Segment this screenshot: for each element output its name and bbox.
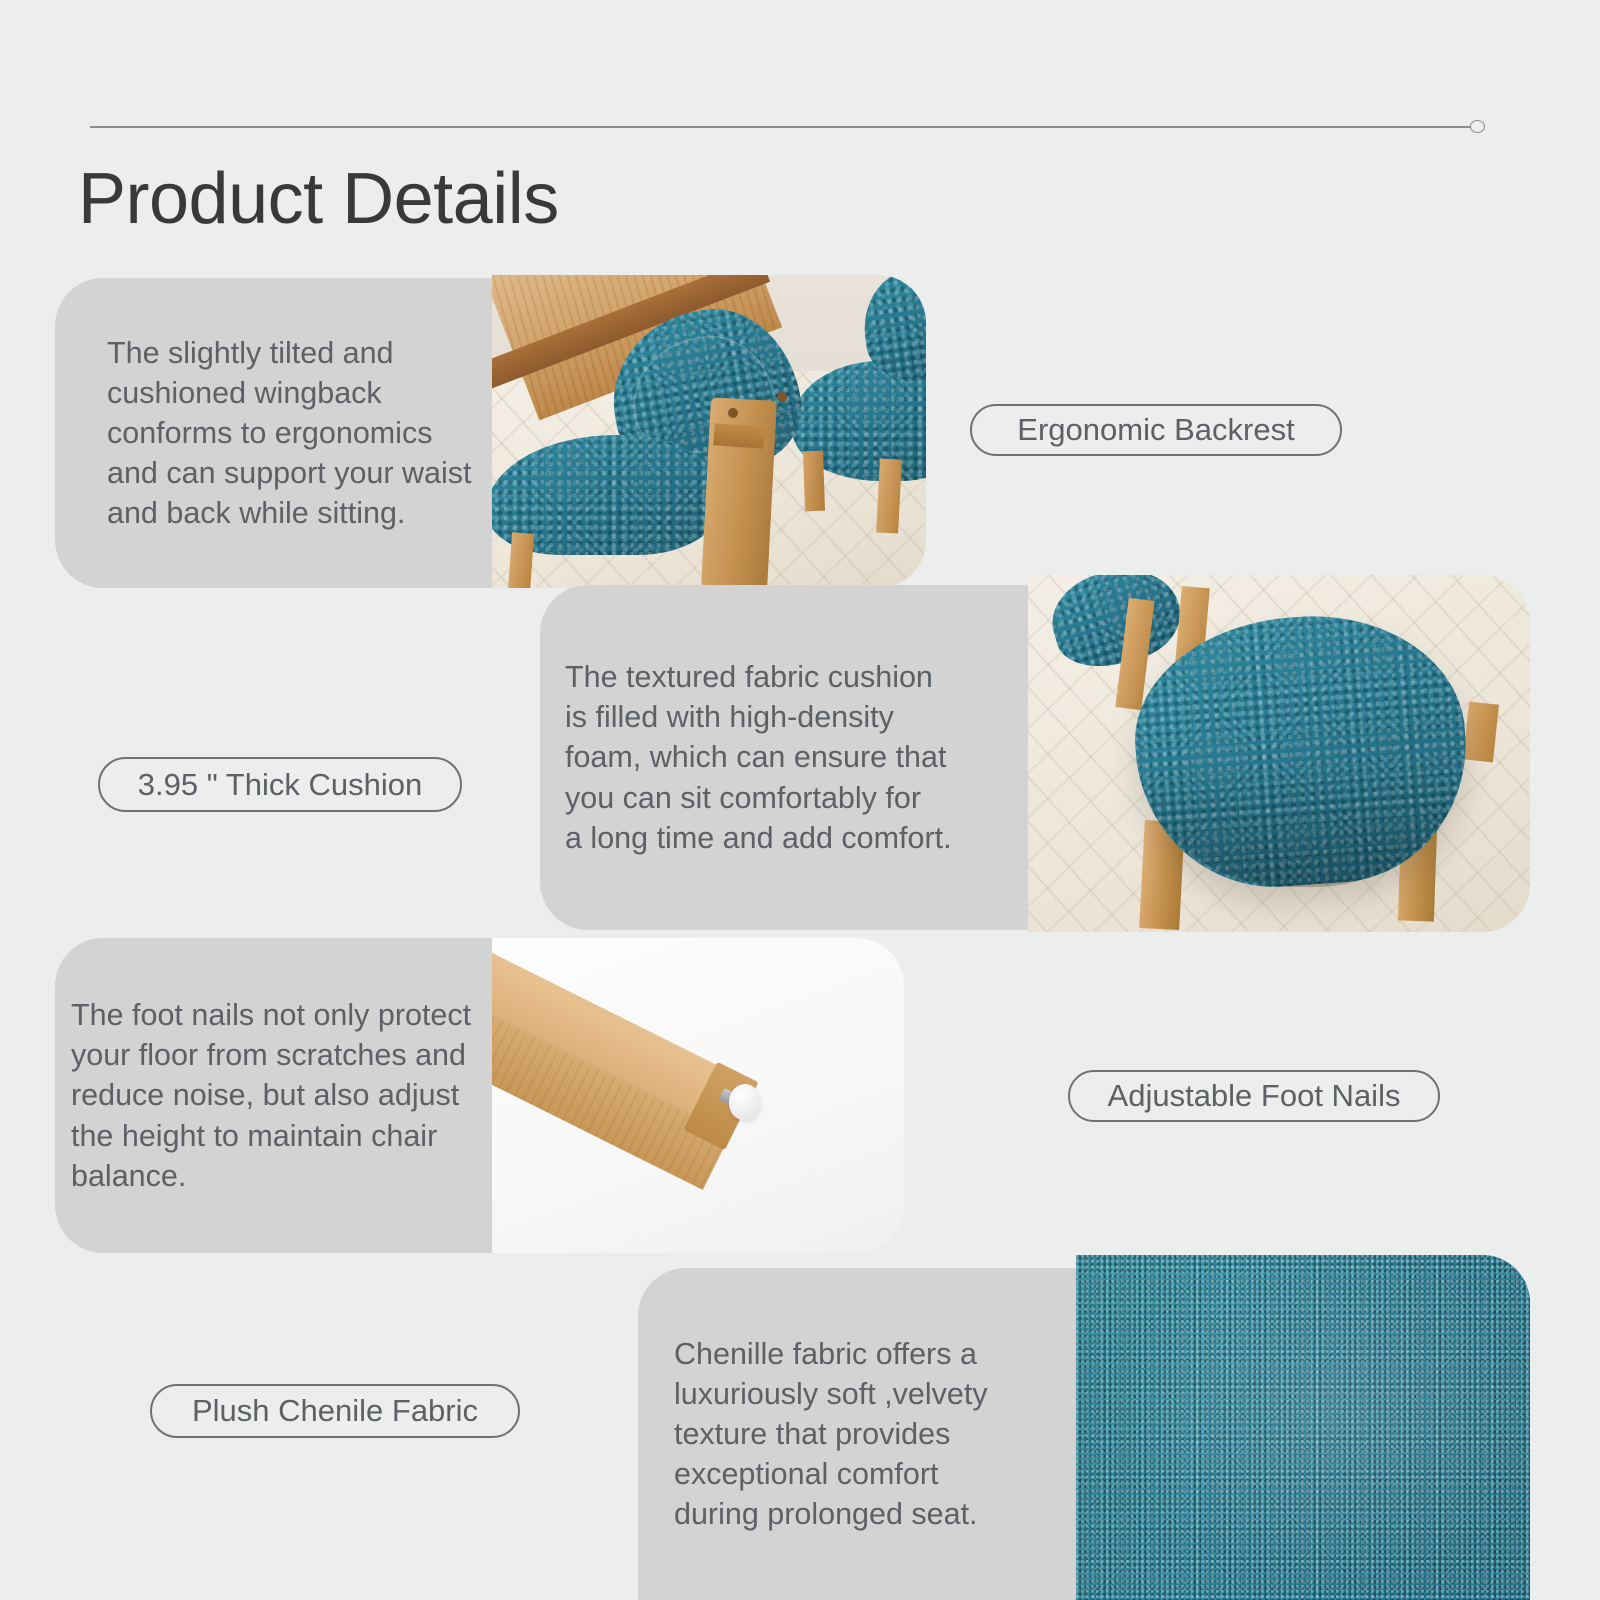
badge-label: Ergonomic Backrest — [1017, 412, 1294, 448]
dowel-plug-icon — [728, 408, 738, 418]
feature-image-fabric-swatch — [1076, 1255, 1530, 1600]
divider-line — [90, 126, 1475, 128]
feature-image-backrest — [492, 275, 926, 588]
badge-label: 3.95 " Thick Cushion — [138, 767, 422, 803]
feature-card-backrest-text: The slightly tilted and cushioned wingba… — [55, 278, 495, 588]
badge-adjustable-foot-nails: Adjustable Foot Nails — [1068, 1070, 1440, 1122]
header-divider — [90, 120, 1485, 134]
badge-label: Plush Chenile Fabric — [192, 1393, 478, 1429]
feature-body-fabric: Chenille fabric offers a luxuriously sof… — [674, 1334, 988, 1534]
fabric-sheen-overlay — [1076, 1255, 1530, 1600]
badge-ergonomic-backrest: Ergonomic Backrest — [970, 404, 1342, 456]
badge-plush-chenile-fabric: Plush Chenile Fabric — [150, 1384, 520, 1438]
feature-card-cushion-text: The textured fabric cushion is filled wi… — [540, 585, 1030, 930]
dowel-plug-icon — [777, 392, 787, 402]
second-chair-leg-front — [803, 451, 825, 512]
product-details-infographic: Product Details The slightly tilted and … — [0, 0, 1600, 1600]
adjustable-foot-nail — [729, 1084, 761, 1120]
page-title: Product Details — [78, 158, 559, 240]
chair-front-leg — [508, 532, 534, 588]
feature-card-fabric-text: Chenille fabric offers a luxuriously sof… — [638, 1268, 1078, 1600]
feature-card-footnails-text: The foot nails not only protect your flo… — [55, 938, 495, 1253]
feature-body-cushion: The textured fabric cushion is filled wi… — [565, 657, 952, 857]
feature-image-cushion — [1028, 575, 1530, 932]
second-chair-leg-rear — [876, 458, 902, 533]
chair-leg-far — [1463, 702, 1499, 763]
badge-label: Adjustable Foot Nails — [1108, 1078, 1401, 1114]
badge-thick-cushion: 3.95 " Thick Cushion — [98, 757, 462, 812]
divider-end-dot-icon — [1470, 120, 1485, 133]
feature-body-footnails: The foot nails not only protect your flo… — [71, 995, 471, 1195]
feature-body-backrest: The slightly tilted and cushioned wingba… — [107, 333, 495, 533]
chair-back-slat — [713, 423, 764, 448]
feature-image-footnails — [492, 938, 904, 1253]
